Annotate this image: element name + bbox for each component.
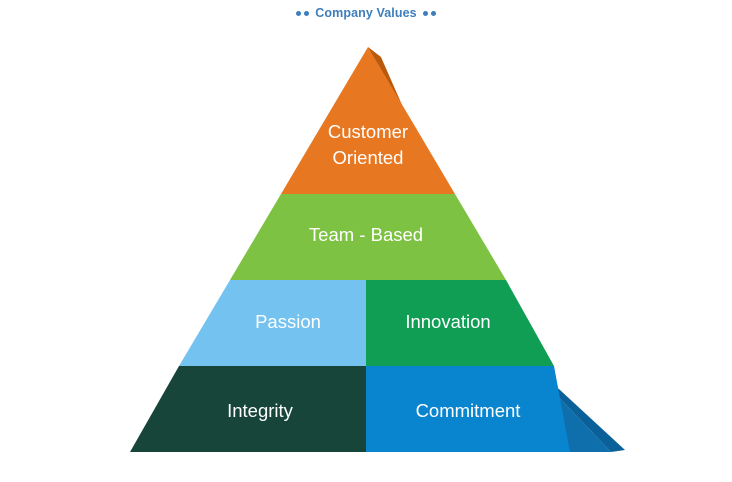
tier-3-face-passion[interactable] bbox=[179, 280, 366, 366]
pyramid-diagram bbox=[0, 0, 732, 482]
diagram-canvas: Company Values Custo bbox=[0, 0, 732, 482]
tier-3-face-innovation[interactable] bbox=[366, 280, 554, 366]
tier-4-face-commitment[interactable] bbox=[366, 366, 570, 452]
tier-2-face-team-based[interactable] bbox=[230, 194, 506, 280]
tier-4-face-integrity[interactable] bbox=[130, 366, 366, 452]
tier-1-face-customer-oriented[interactable] bbox=[281, 47, 455, 194]
